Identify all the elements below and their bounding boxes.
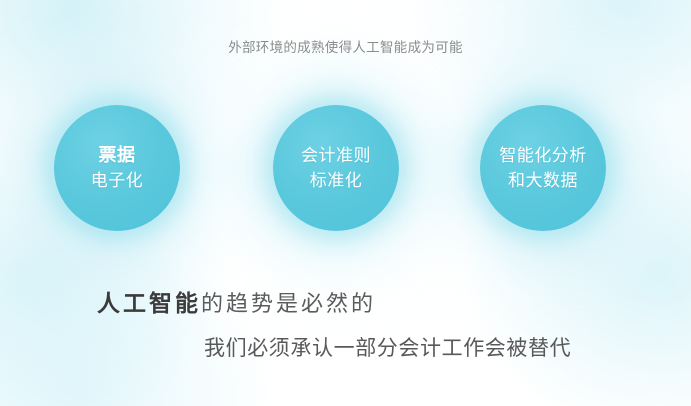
statement-line-2: 我们必须承认一部分会计工作会被替代 (204, 332, 571, 368)
bubble-intelligent-analysis[interactable]: 智能化分析 和大数据 (480, 105, 606, 231)
statement-line-2-text: 我们必须承认一部分会计工作会被替代 (204, 337, 571, 360)
statement-line-1-rest: 的趋势是必然的 (201, 291, 376, 316)
bubble-accounting-standards-line-1: 会计准则 (301, 143, 371, 168)
statement-line-1: 人工智能的趋势是必然的 (97, 286, 376, 324)
statement-block: 人工智能的趋势是必然的 我们必须承认一部分会计工作会被替代 (0, 286, 691, 386)
bubble-accounting-standards-line-2: 标准化 (310, 168, 363, 193)
bubble-intelligent-analysis-line-2: 和大数据 (508, 168, 578, 193)
bubble-accounting-standards[interactable]: 会计准则 标准化 (273, 105, 399, 231)
bubble-invoice-digitization-line-1: 票据 (99, 143, 136, 168)
bubble-intelligent-analysis-line-1: 智能化分析 (499, 143, 587, 168)
slide-canvas: 外部环境的成熟使得人工智能成为可能 票据 电子化 会计准则 标准化 智能化分析 … (0, 0, 691, 406)
bubble-invoice-digitization-line-2: 电子化 (91, 168, 144, 193)
statement-emphasis-text: 人工智能 (97, 290, 201, 316)
bubble-row: 票据 电子化 会计准则 标准化 智能化分析 和大数据 (0, 105, 691, 233)
bubble-invoice-digitization[interactable]: 票据 电子化 (54, 105, 180, 231)
slide-caption: 外部环境的成熟使得人工智能成为可能 (0, 38, 691, 57)
